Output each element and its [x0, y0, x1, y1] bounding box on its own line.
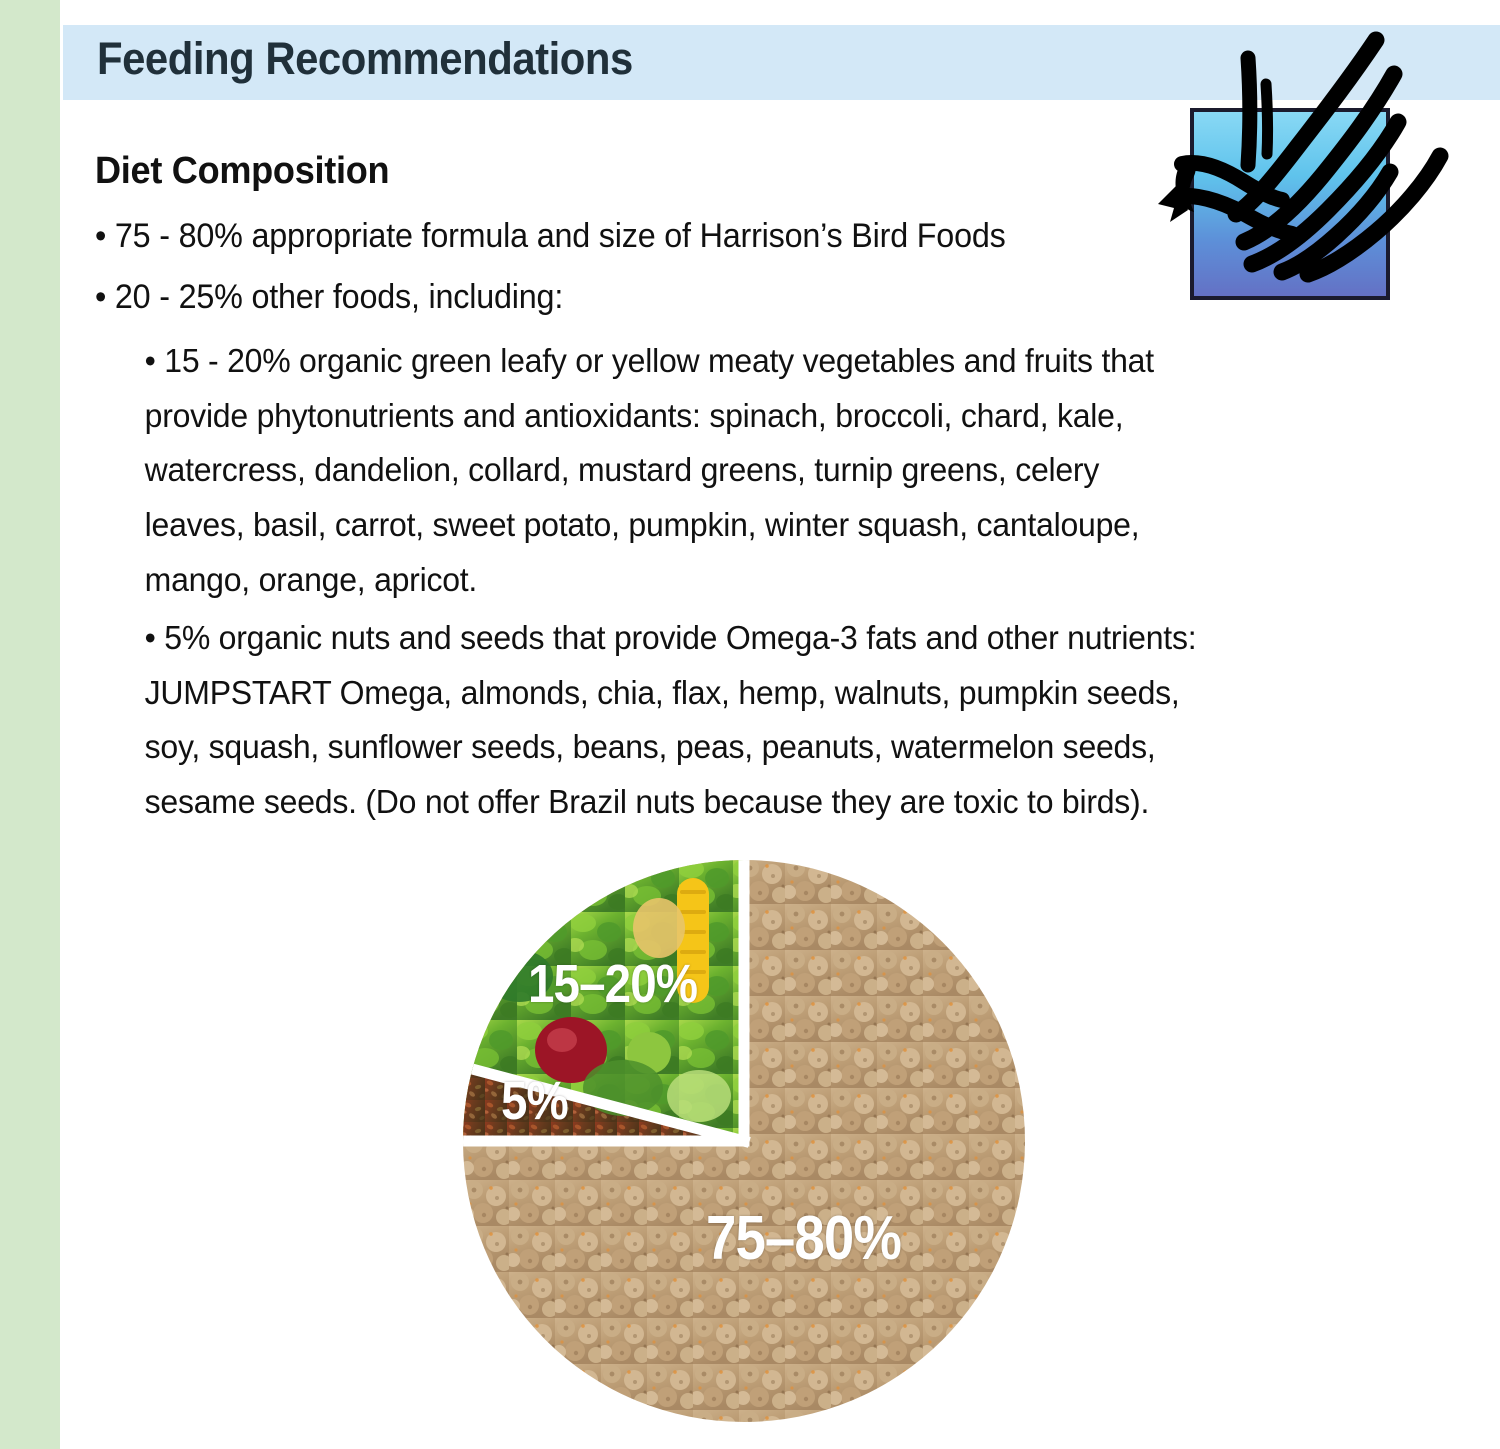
sub-bullet-list: • 15 - 20% organic green leafy or yellow…: [95, 335, 1255, 830]
diet-composition-section: Diet Composition • 75 - 80% appropriate …: [95, 150, 1255, 835]
diet-composition-pie-chart: 15–20% 5% 75–80%: [463, 858, 1025, 1424]
bullet-item-other-foods: • 20 - 25% other foods, including:: [95, 270, 1197, 325]
section-heading: Diet Composition: [95, 150, 1197, 193]
page-title: Feeding Recommendations: [97, 33, 934, 85]
sprouts-accent: [667, 1070, 731, 1122]
broccoli-accent: [485, 950, 553, 1002]
left-green-accent-bar: [0, 0, 60, 1449]
sub-bullet-nuts-seeds: • 5% organic nuts and seeds that provide…: [95, 612, 1200, 830]
sub-bullet-vegetables-fruits: • 15 - 20% organic green leafy or yellow…: [95, 335, 1200, 608]
squash-accent: [633, 898, 685, 958]
bullet-item-formula: • 75 - 80% appropriate formula and size …: [95, 209, 1197, 264]
